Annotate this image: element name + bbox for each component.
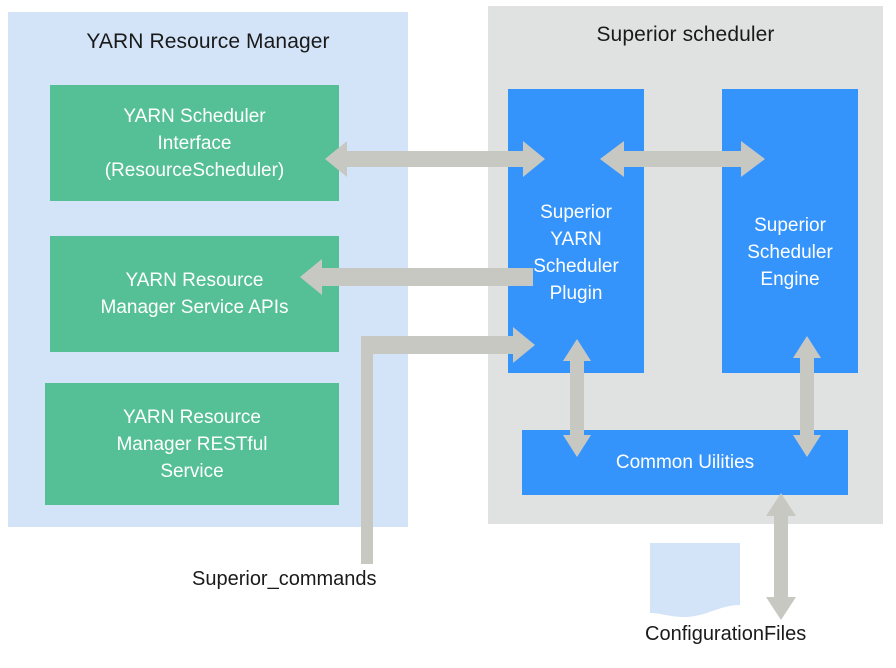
label-superior-commands: Superior_commands — [192, 567, 377, 592]
line: Scheduler — [514, 253, 638, 280]
node-yarn-scheduler-interface-label: YARN Scheduler Interface (ResourceSchedu… — [56, 103, 333, 184]
line: Manager Service APIs — [56, 294, 333, 321]
line: YARN Resource — [56, 267, 333, 294]
label-configuration-files: ConfigurationFiles — [645, 622, 806, 647]
line: YARN Scheduler — [56, 103, 333, 130]
node-superior-yarn-scheduler-plugin: Superior YARN Scheduler Plugin — [508, 89, 644, 373]
line: Scheduler — [728, 239, 852, 266]
configuration-files-document-icon — [650, 543, 742, 621]
architecture-diagram: YARN Resource Manager YARN Scheduler Int… — [0, 0, 896, 668]
node-superior-yarn-scheduler-plugin-label: Superior YARN Scheduler Plugin — [514, 199, 638, 307]
node-yarn-rm-restful-service-label: YARN Resource Manager RESTful Service — [51, 404, 333, 485]
line: Superior — [514, 199, 638, 226]
node-superior-scheduler-engine: Superior Scheduler Engine — [722, 89, 858, 373]
node-common-utilities-label: Common Uilities — [528, 449, 842, 476]
node-yarn-rm-restful-service: YARN Resource Manager RESTful Service — [45, 383, 339, 505]
line: Interface — [56, 130, 333, 157]
line: YARN — [514, 226, 638, 253]
node-yarn-rm-service-apis: YARN Resource Manager Service APIs — [50, 236, 339, 352]
yarn-resource-manager-title: YARN Resource Manager — [8, 29, 408, 55]
line: YARN Resource — [51, 404, 333, 431]
node-yarn-scheduler-interface: YARN Scheduler Interface (ResourceSchedu… — [50, 85, 339, 201]
line: Plugin — [514, 280, 638, 307]
line: Manager RESTful — [51, 431, 333, 458]
line: Superior — [728, 212, 852, 239]
node-yarn-rm-service-apis-label: YARN Resource Manager Service APIs — [56, 267, 333, 321]
line: (ResourceScheduler) — [56, 157, 333, 184]
line: Service — [51, 458, 333, 485]
node-superior-scheduler-engine-label: Superior Scheduler Engine — [728, 212, 852, 293]
line: Engine — [728, 266, 852, 293]
node-common-utilities: Common Uilities — [522, 430, 848, 495]
superior-scheduler-title: Superior scheduler — [488, 22, 883, 48]
